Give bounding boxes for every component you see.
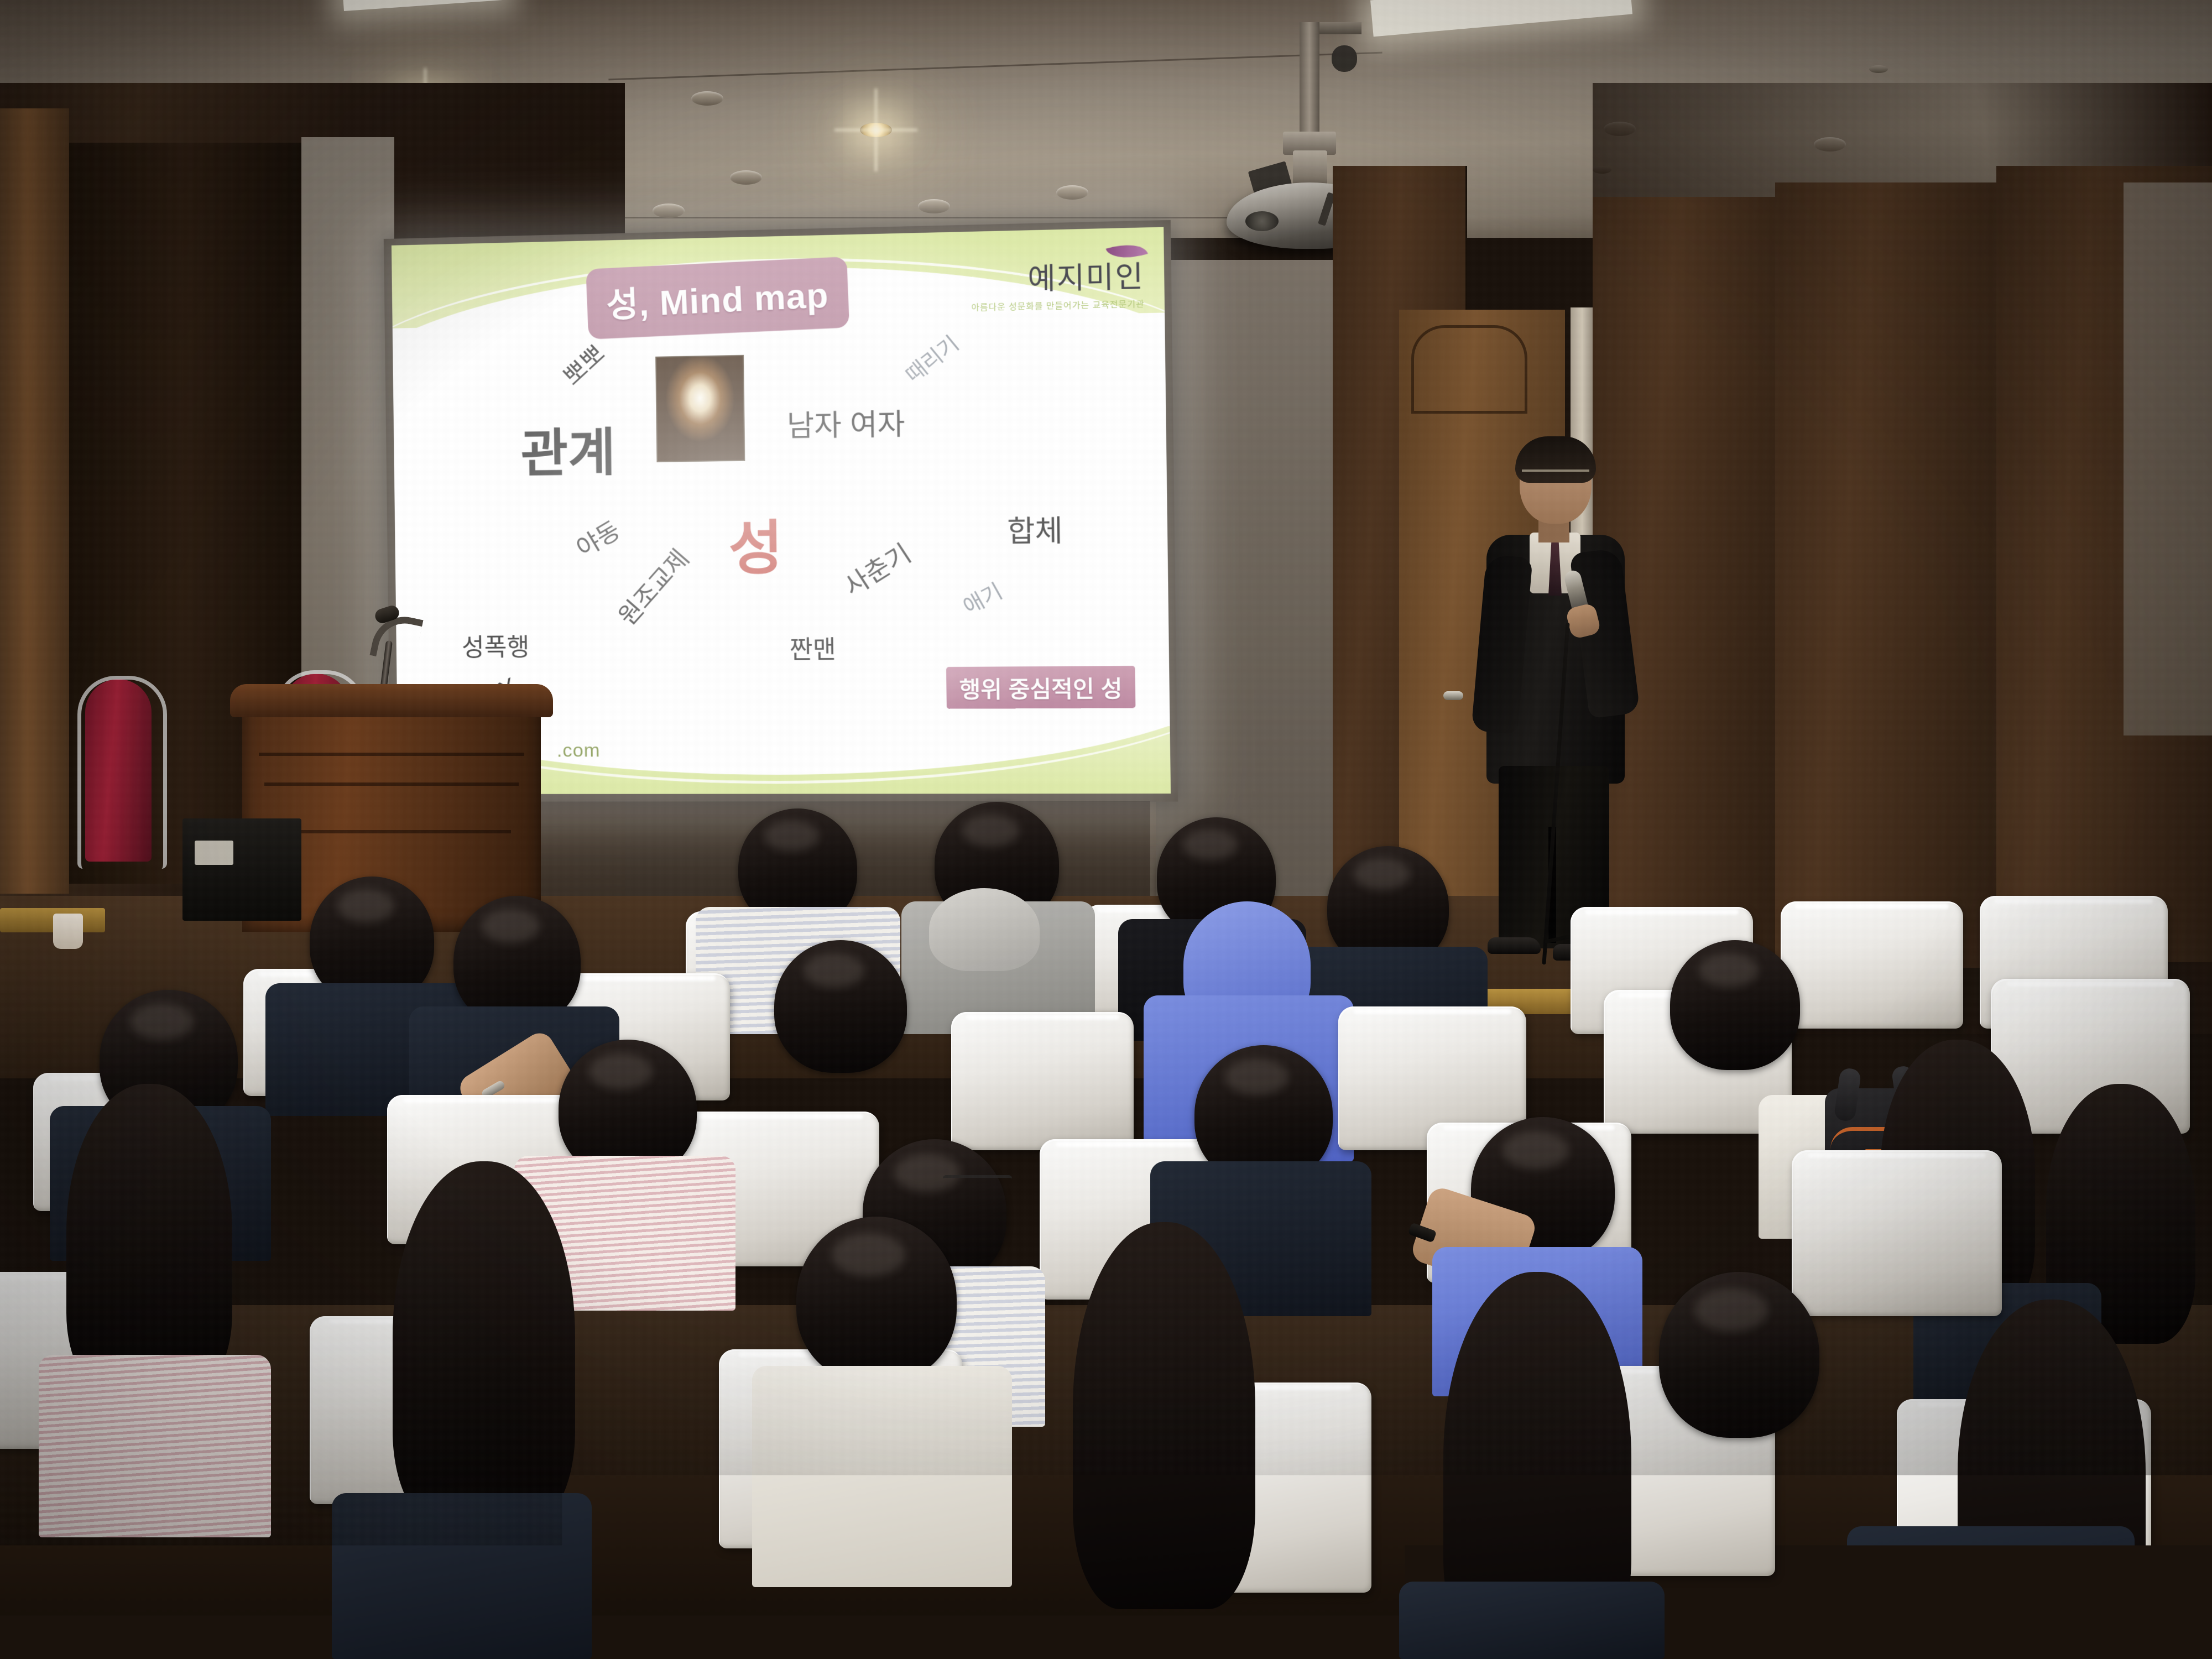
projector-lens xyxy=(1245,211,1279,231)
audience-head xyxy=(1659,1272,1819,1438)
side-table xyxy=(0,908,105,932)
audience-torso xyxy=(1847,1526,2135,1659)
podium-trim xyxy=(273,830,511,833)
audience-torso xyxy=(39,1355,271,1537)
sprinkler-head xyxy=(1869,65,1888,73)
podium-trim xyxy=(264,782,519,786)
backpack-strap xyxy=(1834,1067,1862,1122)
audience-torso xyxy=(1399,1582,1665,1659)
audience-long-hair xyxy=(393,1161,575,1526)
plaster-wall-strip-right xyxy=(1150,260,1333,912)
audience-chair xyxy=(1781,901,1963,1029)
equipment-box xyxy=(182,818,301,921)
stage-chair-frame xyxy=(77,676,167,869)
gray-hoodie-hood xyxy=(929,888,1040,971)
equipment-label xyxy=(195,841,233,865)
audience-head xyxy=(1670,940,1800,1070)
stage-chair xyxy=(77,679,160,862)
mindmap-word-compensated-dating: 원조교제 xyxy=(608,540,696,632)
brand-logo: 예지미인 아름다운 성문화를 만들어가는 교육전문기관 xyxy=(971,253,1144,314)
presenter-shoe xyxy=(1488,937,1541,954)
audience-long-hair xyxy=(66,1084,232,1394)
paper-cup xyxy=(53,914,83,949)
wood-column-left xyxy=(0,108,69,894)
mindmap-word-porn: 야동 xyxy=(568,510,626,564)
audience-long-hair xyxy=(1073,1222,1255,1609)
audience-torso xyxy=(332,1493,592,1659)
audience-chair xyxy=(1792,1150,2002,1316)
mindmap-word-puberty: 사춘기 xyxy=(836,534,917,604)
ceiling-downlight xyxy=(691,91,723,106)
ceiling-downlight xyxy=(918,199,950,213)
mindmap-word-baby: 애기 xyxy=(956,574,1007,620)
podium-trim xyxy=(259,753,524,756)
mindmap-word-relation: 관계 xyxy=(520,411,616,487)
audience-torso xyxy=(1012,1559,1288,1659)
projector-bracket xyxy=(1332,45,1357,72)
projector-pole xyxy=(1300,22,1319,133)
audience-head xyxy=(774,940,907,1073)
mindmap-word-man-woman: 남자 여자 xyxy=(786,400,905,445)
slide-domain-text: .com xyxy=(557,740,601,762)
mindmap-word-union: 합체 xyxy=(1007,507,1063,550)
wood-panel xyxy=(1775,182,1998,968)
mindmap-word-center-sex: 성 xyxy=(728,500,783,586)
ceiling-downlight xyxy=(730,170,762,185)
mindmap-word-sexual-assault: 성폭행 xyxy=(462,627,530,663)
podium-top-ledge xyxy=(230,684,553,717)
auditorium-photo: 성, Mind map 예지미인 아름다운 성문화를 만들어가는 교육전문기관 … xyxy=(0,0,2212,1659)
door-arch-molding xyxy=(1411,325,1527,414)
ceiling-downlight xyxy=(653,204,685,218)
slide-photo-thumbnail xyxy=(655,355,745,462)
audience-head xyxy=(796,1217,957,1383)
ceiling-downlight xyxy=(1056,185,1088,200)
slide-bottom-badge: 행위 중심적인 성 xyxy=(946,666,1135,709)
audience-torso xyxy=(752,1366,1012,1587)
glasses-icon xyxy=(1522,469,1589,481)
plaster-wall-right-far xyxy=(2124,182,2212,735)
glasses-icon xyxy=(943,1175,1012,1186)
brand-name: 예지미인 xyxy=(971,253,1144,299)
mindmap-word-jjanman: 짠맨 xyxy=(789,629,836,666)
slide-title-badge: 성, Mind map xyxy=(586,257,849,340)
ceiling-downlight xyxy=(860,123,892,137)
audience-chair xyxy=(951,1012,1134,1150)
presenter xyxy=(1460,440,1642,984)
